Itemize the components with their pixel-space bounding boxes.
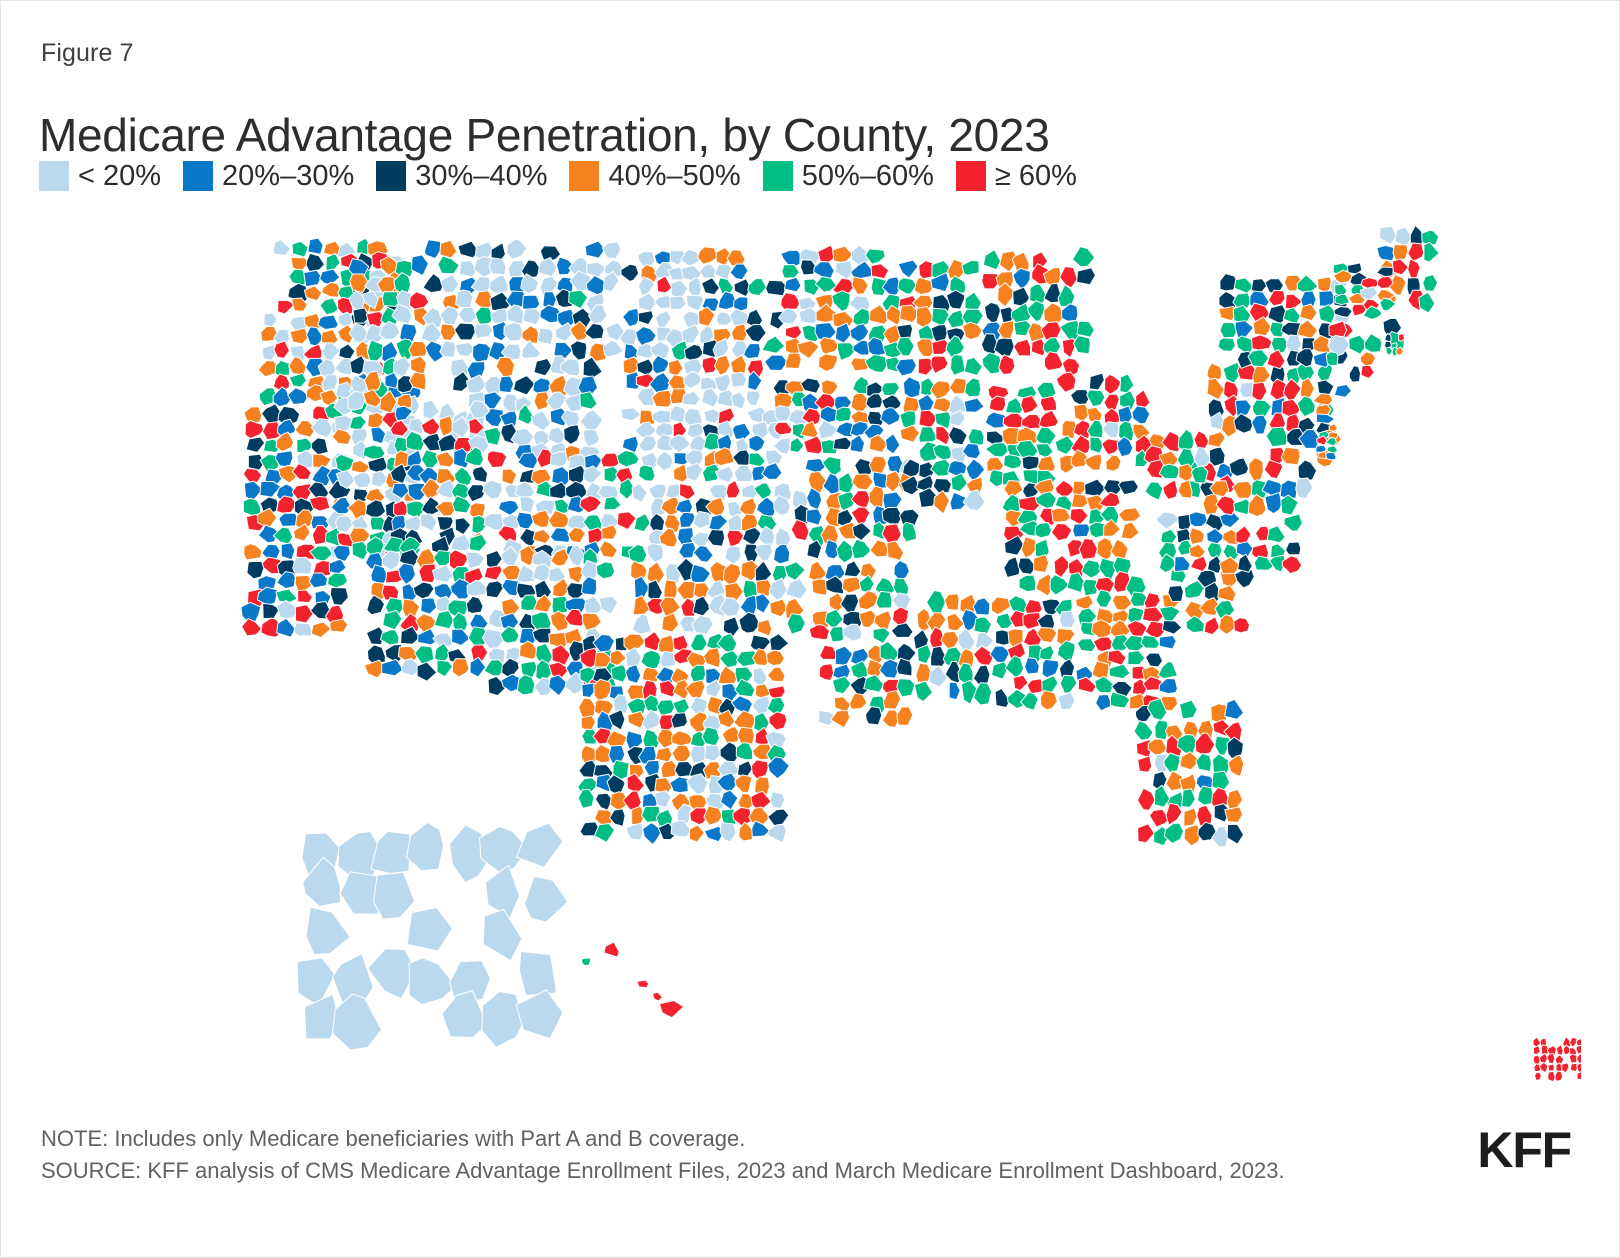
county-cell[interactable] <box>1163 480 1178 499</box>
county-cell[interactable] <box>1005 656 1024 678</box>
county-cell[interactable] <box>885 434 900 454</box>
county-cell[interactable] <box>1227 789 1243 810</box>
county-cell[interactable] <box>411 255 428 276</box>
county-cell[interactable] <box>1180 700 1198 719</box>
county-cell-alaska[interactable] <box>374 872 415 919</box>
county-cell[interactable] <box>632 484 647 503</box>
county-cell[interactable] <box>455 290 472 308</box>
county-cell[interactable] <box>1233 305 1251 323</box>
legend-item-gte60[interactable]: ≥ 60% <box>956 161 1077 191</box>
county-cell[interactable] <box>1218 586 1236 602</box>
county-cell[interactable] <box>1096 695 1112 711</box>
county-cell[interactable] <box>1297 320 1317 339</box>
county-cell-hawaii[interactable] <box>581 958 590 966</box>
county-cell[interactable] <box>835 407 851 422</box>
county-cell[interactable] <box>1090 437 1104 453</box>
county-cell[interactable] <box>781 293 801 311</box>
county-cell[interactable] <box>897 707 913 726</box>
county-cell[interactable] <box>583 466 602 484</box>
county-cell[interactable] <box>707 529 725 546</box>
county-cell[interactable] <box>836 261 853 280</box>
county-cell[interactable] <box>1004 455 1022 469</box>
county-cell[interactable] <box>1092 661 1109 679</box>
county-cell[interactable] <box>452 496 471 513</box>
county-cell[interactable] <box>1158 661 1178 678</box>
county-cell[interactable] <box>1102 422 1119 438</box>
county-cell[interactable] <box>580 410 603 431</box>
county-cell[interactable] <box>947 310 965 328</box>
county-cell[interactable] <box>513 375 534 395</box>
county-cell-alaska[interactable] <box>306 907 350 955</box>
county-cell[interactable] <box>692 615 714 634</box>
county-cell-puerto-rico[interactable] <box>1576 1054 1581 1064</box>
county-cell[interactable] <box>805 459 826 474</box>
county-cell[interactable] <box>1361 365 1374 378</box>
county-cell[interactable] <box>523 309 542 325</box>
county-cell[interactable] <box>755 544 773 561</box>
county-cell[interactable] <box>1236 336 1254 353</box>
county-cell-alaska[interactable] <box>525 876 568 922</box>
county-cell[interactable] <box>714 265 731 280</box>
county-cell[interactable] <box>974 683 992 705</box>
county-cell[interactable] <box>1084 479 1105 497</box>
county-cell[interactable] <box>770 634 789 651</box>
county-cell-puerto-rico[interactable] <box>1556 1045 1563 1055</box>
county-cell[interactable] <box>767 824 786 842</box>
county-cell[interactable] <box>1235 570 1255 588</box>
county-cell[interactable] <box>835 646 852 665</box>
county-cell[interactable] <box>987 458 1004 472</box>
county-cell[interactable] <box>486 581 505 598</box>
county-cell[interactable] <box>984 302 1000 323</box>
county-cell[interactable] <box>1218 338 1236 351</box>
county-cell[interactable] <box>304 313 320 328</box>
county-cell[interactable] <box>831 710 850 727</box>
county-cell[interactable] <box>990 646 1010 663</box>
county-cell[interactable] <box>1040 396 1056 411</box>
county-cell[interactable] <box>880 641 899 660</box>
county-cell[interactable] <box>243 498 260 515</box>
county-cell[interactable] <box>1196 753 1212 771</box>
county-cell[interactable] <box>870 540 888 557</box>
county-cell[interactable] <box>961 680 977 704</box>
county-cell[interactable] <box>455 518 470 535</box>
county-cell[interactable] <box>437 660 453 677</box>
county-cell[interactable] <box>598 485 619 498</box>
county-cell[interactable] <box>814 262 834 279</box>
county-cell[interactable] <box>1285 294 1302 308</box>
county-cell[interactable] <box>311 418 333 437</box>
county-cell[interactable] <box>308 238 323 254</box>
county-cell[interactable] <box>951 473 967 491</box>
county-cell[interactable] <box>1198 786 1214 805</box>
county-cell[interactable] <box>536 643 553 663</box>
county-cell[interactable] <box>840 594 858 613</box>
county-cell[interactable] <box>502 469 517 485</box>
county-cell[interactable] <box>704 806 722 825</box>
county-cell[interactable] <box>787 614 805 635</box>
county-cell[interactable] <box>1174 557 1190 572</box>
county-cell-alaska[interactable] <box>516 990 563 1039</box>
county-cell[interactable] <box>1220 323 1237 338</box>
county-cell[interactable] <box>339 344 355 360</box>
county-cell[interactable] <box>1211 704 1227 722</box>
county-cell[interactable] <box>849 296 870 312</box>
county-cell[interactable] <box>466 552 485 568</box>
county-cell[interactable] <box>737 727 754 744</box>
county-cell[interactable] <box>941 631 960 648</box>
county-cell[interactable] <box>698 247 719 265</box>
county-cell[interactable] <box>1120 374 1134 393</box>
county-cell[interactable] <box>670 777 688 793</box>
county-cell[interactable] <box>603 340 623 357</box>
county-cell[interactable] <box>621 408 641 421</box>
county-cell[interactable] <box>1284 514 1303 531</box>
legend-item-40_50[interactable]: 40%–50% <box>569 161 740 191</box>
county-cell[interactable] <box>1157 512 1179 529</box>
county-cell[interactable] <box>734 465 753 481</box>
county-cell[interactable] <box>1159 606 1180 622</box>
county-cell[interactable] <box>858 591 878 610</box>
county-cell[interactable] <box>975 633 994 648</box>
legend-item-20_30[interactable]: 20%–30% <box>183 161 354 191</box>
county-cell[interactable] <box>947 613 964 631</box>
county-cell[interactable] <box>1325 453 1336 460</box>
county-cell[interactable] <box>1022 456 1040 470</box>
county-cell[interactable] <box>1399 333 1405 341</box>
county-cell[interactable] <box>864 675 884 692</box>
county-cell[interactable] <box>1194 447 1211 466</box>
county-cell[interactable] <box>1112 595 1132 610</box>
county-cell[interactable] <box>1093 637 1112 652</box>
county-cell[interactable] <box>668 359 683 377</box>
legend-item-50_60[interactable]: 50%–60% <box>763 161 934 191</box>
county-cell[interactable] <box>1249 458 1264 482</box>
county-cell[interactable] <box>656 451 673 471</box>
county-cell[interactable] <box>974 617 992 634</box>
county-cell[interactable] <box>755 561 772 583</box>
county-cell[interactable] <box>693 546 713 563</box>
county-cell[interactable] <box>580 392 597 409</box>
county-cell[interactable] <box>587 262 607 277</box>
county-cell[interactable] <box>288 388 309 405</box>
county-cell[interactable] <box>1283 308 1300 324</box>
county-cell[interactable] <box>1104 519 1121 536</box>
county-cell[interactable] <box>688 278 701 298</box>
county-cell[interactable] <box>438 256 459 274</box>
county-cell-alaska[interactable] <box>519 951 556 995</box>
county-cell[interactable] <box>516 512 534 530</box>
county-cell[interactable] <box>769 712 787 730</box>
county-cell[interactable] <box>420 514 437 531</box>
county-cell[interactable] <box>869 435 887 453</box>
county-cell[interactable] <box>964 398 984 412</box>
county-cell[interactable] <box>1132 406 1150 424</box>
county-cell[interactable] <box>1013 287 1030 306</box>
county-cell[interactable] <box>1225 699 1244 719</box>
county-cell[interactable] <box>1138 756 1152 772</box>
county-cell[interactable] <box>247 561 265 578</box>
county-cell-alaska[interactable] <box>371 831 410 873</box>
county-cell[interactable] <box>451 629 470 646</box>
county-cell[interactable] <box>1078 677 1096 693</box>
county-cell[interactable] <box>766 650 784 666</box>
county-cell[interactable] <box>1099 558 1116 580</box>
county-cell[interactable] <box>1058 285 1075 307</box>
county-cell[interactable] <box>421 598 437 614</box>
county-cell[interactable] <box>636 326 657 345</box>
county-cell[interactable] <box>472 466 487 482</box>
county-cell[interactable] <box>602 242 621 259</box>
county-cell[interactable] <box>534 359 552 376</box>
county-cell[interactable] <box>818 420 838 438</box>
county-cell[interactable] <box>1234 618 1250 633</box>
county-cell[interactable] <box>689 825 704 842</box>
county-cell[interactable] <box>1076 595 1094 610</box>
county-cell[interactable] <box>1385 333 1392 341</box>
county-cell[interactable] <box>865 355 888 373</box>
county-cell[interactable] <box>927 591 946 615</box>
county-cell[interactable] <box>929 666 948 687</box>
county-cell[interactable] <box>819 664 834 681</box>
county-cell[interactable] <box>585 241 605 258</box>
county-cell[interactable] <box>570 341 586 360</box>
county-cell[interactable] <box>610 650 626 666</box>
county-cell[interactable] <box>507 239 527 259</box>
county-cell[interactable] <box>965 378 981 397</box>
county-cell[interactable] <box>723 617 739 637</box>
county-cell[interactable] <box>932 308 950 327</box>
county-cell[interactable] <box>1083 579 1098 596</box>
county-cell[interactable] <box>639 465 655 481</box>
county-cell[interactable] <box>634 514 650 532</box>
county-cell[interactable] <box>504 322 523 340</box>
county-cell[interactable] <box>681 325 699 344</box>
county-cell[interactable] <box>1059 611 1075 628</box>
county-cell[interactable] <box>1204 617 1219 635</box>
county-cell[interactable] <box>294 623 313 636</box>
county-cell[interactable] <box>865 249 885 264</box>
county-cell[interactable] <box>1072 247 1094 267</box>
county-cell[interactable] <box>1159 635 1176 648</box>
county-cell[interactable] <box>298 590 313 603</box>
county-cell[interactable] <box>1087 420 1103 438</box>
county-cell[interactable] <box>1393 245 1408 261</box>
county-cell[interactable] <box>466 596 483 613</box>
county-cell[interactable] <box>999 355 1015 375</box>
county-cell[interactable] <box>730 309 749 327</box>
county-cell[interactable] <box>700 264 718 279</box>
county-cell[interactable] <box>739 612 760 633</box>
county-cell[interactable] <box>914 681 932 701</box>
county-cell[interactable] <box>1055 480 1074 498</box>
county-cell[interactable] <box>1041 322 1061 340</box>
county-cell[interactable] <box>617 450 639 466</box>
county-cell-alaska[interactable] <box>483 909 522 960</box>
county-cell[interactable] <box>599 596 618 614</box>
county-cell[interactable] <box>672 731 693 746</box>
county-cell[interactable] <box>918 645 932 664</box>
county-cell[interactable] <box>1229 458 1248 476</box>
county-cell[interactable] <box>550 452 567 467</box>
county-cell[interactable] <box>1189 528 1204 545</box>
county-cell[interactable] <box>680 484 696 500</box>
county-cell[interactable] <box>622 436 638 453</box>
county-cell[interactable] <box>1360 352 1375 367</box>
county-cell[interactable] <box>626 823 643 840</box>
county-cell[interactable] <box>496 357 515 377</box>
county-cell[interactable] <box>1326 352 1338 366</box>
county-cell[interactable] <box>994 338 1014 356</box>
county-cell[interactable] <box>735 775 753 793</box>
county-cell[interactable] <box>1148 739 1167 756</box>
county-cell[interactable] <box>1227 824 1243 844</box>
county-cell[interactable] <box>852 474 873 490</box>
county-cell[interactable] <box>1162 621 1182 635</box>
county-cell[interactable] <box>423 400 440 419</box>
county-cell[interactable] <box>1219 557 1240 574</box>
county-cell[interactable] <box>1300 304 1318 321</box>
county-cell[interactable] <box>880 408 900 426</box>
county-cell[interactable] <box>1134 721 1153 741</box>
county-cell[interactable] <box>670 296 686 309</box>
county-cell[interactable] <box>328 573 348 588</box>
county-cell[interactable] <box>900 425 920 442</box>
county-cell[interactable] <box>671 713 687 728</box>
county-cell[interactable] <box>1070 508 1088 524</box>
county-cell[interactable] <box>568 527 585 542</box>
county-cell[interactable] <box>353 473 371 488</box>
county-cell[interactable] <box>834 697 850 712</box>
county-cell[interactable] <box>549 675 568 696</box>
county-cell[interactable] <box>973 598 990 615</box>
county-cell[interactable] <box>1238 554 1253 572</box>
county-cell[interactable] <box>1267 525 1285 542</box>
county-cell-puerto-rico[interactable] <box>1548 1071 1556 1081</box>
county-cell[interactable] <box>292 241 308 257</box>
county-cell[interactable] <box>662 613 679 632</box>
county-cell[interactable] <box>869 486 884 507</box>
county-cell[interactable] <box>818 354 837 371</box>
county-cell[interactable] <box>596 562 615 579</box>
county-cell[interactable] <box>654 791 671 808</box>
county-cell[interactable] <box>627 773 645 792</box>
county-cell-hawaii[interactable] <box>659 1000 683 1017</box>
county-cell[interactable] <box>1285 542 1300 555</box>
county-cell[interactable] <box>656 747 673 762</box>
county-cell[interactable] <box>775 422 792 435</box>
county-cell[interactable] <box>1051 524 1071 541</box>
county-cell[interactable] <box>1095 676 1114 693</box>
county-cell[interactable] <box>281 543 295 560</box>
county-cell[interactable] <box>730 264 748 280</box>
county-cell[interactable] <box>832 291 850 312</box>
county-cell[interactable] <box>673 698 690 714</box>
county-cell[interactable] <box>690 634 707 651</box>
county-cell[interactable] <box>866 707 882 725</box>
county-cell[interactable] <box>720 822 736 841</box>
county-cell[interactable] <box>653 355 670 373</box>
county-cell[interactable] <box>1423 275 1438 292</box>
county-cell[interactable] <box>1037 456 1055 471</box>
county-cell[interactable] <box>467 485 486 502</box>
county-cell[interactable] <box>1207 528 1225 544</box>
county-cell[interactable] <box>931 356 948 374</box>
county-cell[interactable] <box>754 483 771 500</box>
county-cell[interactable] <box>1334 384 1351 397</box>
county-cell[interactable] <box>876 591 892 608</box>
county-cell[interactable] <box>1027 301 1044 322</box>
county-cell[interactable] <box>1097 538 1113 561</box>
county-cell[interactable] <box>421 450 438 469</box>
county-cell[interactable] <box>714 448 734 466</box>
county-cell[interactable] <box>694 511 710 528</box>
county-cell[interactable] <box>731 355 747 374</box>
county-cell[interactable] <box>333 545 351 561</box>
county-cell[interactable] <box>533 529 551 543</box>
county-cell[interactable] <box>1035 523 1051 538</box>
county-cell[interactable] <box>727 530 744 547</box>
county-cell-puerto-rico[interactable] <box>1547 1053 1555 1063</box>
county-cell[interactable] <box>731 392 746 409</box>
county-cell[interactable] <box>1364 334 1382 353</box>
county-cell[interactable] <box>945 594 960 611</box>
county-cell[interactable] <box>962 260 979 275</box>
county-cell[interactable] <box>736 743 752 760</box>
county-cell-puerto-rico[interactable] <box>1548 1064 1554 1071</box>
county-cell[interactable] <box>1395 227 1412 247</box>
county-cell-alaska[interactable] <box>406 822 443 870</box>
county-cell[interactable] <box>458 307 477 323</box>
county-cell[interactable] <box>897 679 915 697</box>
county-cell[interactable] <box>474 324 493 339</box>
county-cell[interactable] <box>1145 482 1163 500</box>
county-cell[interactable] <box>581 576 596 595</box>
county-cell[interactable] <box>599 541 617 558</box>
county-cell[interactable] <box>289 373 306 387</box>
county-cell[interactable] <box>550 611 568 631</box>
county-cell[interactable] <box>949 682 960 699</box>
county-cell[interactable] <box>785 562 806 581</box>
county-cell[interactable] <box>639 436 657 452</box>
county-cell[interactable] <box>1251 415 1267 434</box>
county-cell[interactable] <box>1224 381 1239 399</box>
county-cell[interactable] <box>852 539 872 559</box>
county-cell[interactable] <box>293 557 312 574</box>
county-cell[interactable] <box>245 421 263 439</box>
county-cell[interactable] <box>702 388 719 407</box>
county-cell[interactable] <box>839 472 854 494</box>
county-cell[interactable] <box>423 274 443 293</box>
county-cell[interactable] <box>770 599 788 617</box>
county-cell[interactable] <box>1189 512 1207 527</box>
county-cell[interactable] <box>637 359 655 376</box>
county-cell[interactable] <box>550 528 570 543</box>
county-cell[interactable] <box>1266 427 1288 447</box>
county-cell[interactable] <box>647 544 663 563</box>
county-cell[interactable] <box>626 647 642 667</box>
county-cell[interactable] <box>850 324 869 343</box>
county-cell-puerto-rico[interactable] <box>1533 1046 1540 1055</box>
county-cell[interactable] <box>440 341 456 358</box>
county-cell[interactable] <box>1209 447 1225 466</box>
county-cell[interactable] <box>1392 259 1408 275</box>
county-cell[interactable] <box>807 540 822 559</box>
county-cell[interactable] <box>983 250 1001 270</box>
county-cell[interactable] <box>732 423 750 439</box>
county-cell[interactable] <box>610 809 625 827</box>
county-cell[interactable] <box>871 264 889 279</box>
